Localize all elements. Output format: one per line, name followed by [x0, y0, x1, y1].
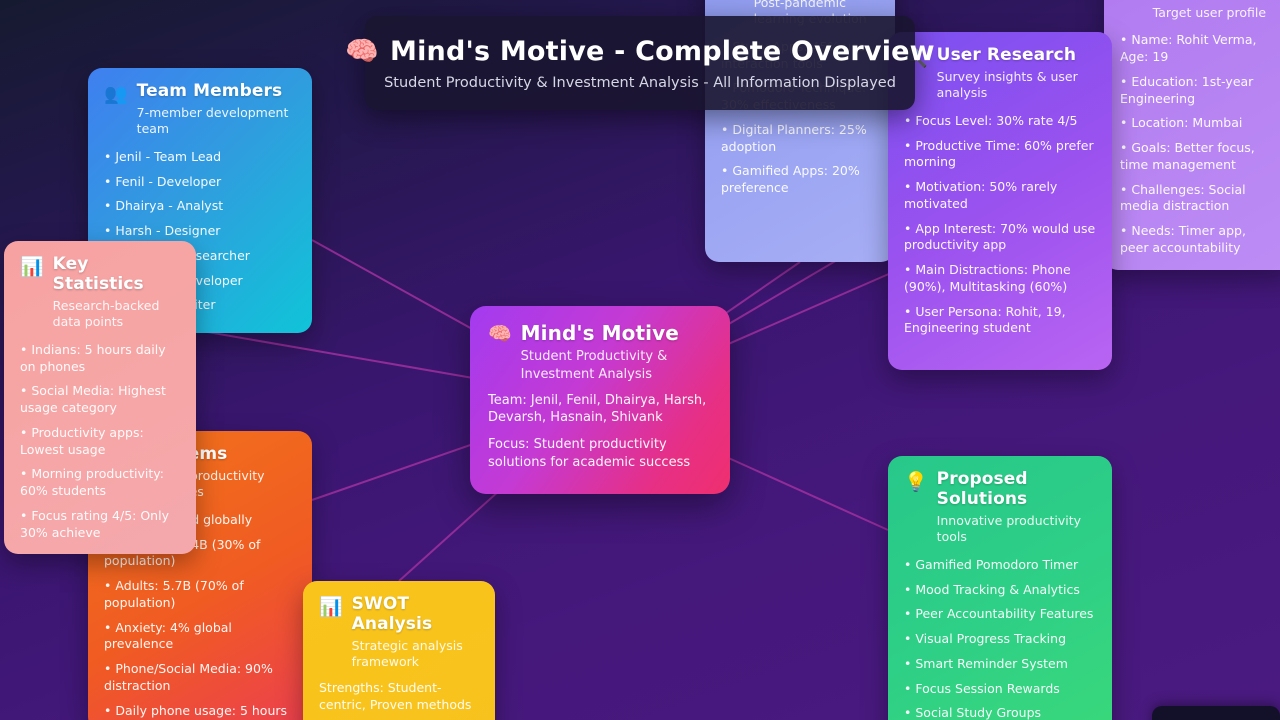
page-subtitle: Student Productivity & Investment Analys…	[384, 75, 896, 91]
list-item: User Persona: Rohit, 19, Engineering stu…	[904, 304, 1096, 338]
node-item-list: Indians: 5 hours daily on phones Social …	[20, 342, 180, 542]
node-subtitle: Survey insights & user analysis	[937, 69, 1096, 102]
node-title: Team Members	[137, 82, 296, 102]
brain-icon: 🧠	[488, 324, 512, 346]
list-item: Location: Mumbai	[1120, 115, 1278, 132]
bar-chart-icon: 📊	[319, 597, 343, 619]
center-team-line: Team: Jenil, Fenil, Dhairya, Harsh, Deva…	[488, 392, 712, 427]
mindmap-canvas[interactable]: 📊 Market Research Post-pandemic learning…	[0, 0, 1280, 720]
node-subtitle: Innovative productivity tools	[937, 513, 1096, 546]
node-item-list: Focus Level: 30% rate 4/5 Productive Tim…	[904, 113, 1096, 337]
list-item: Anxiety: 4% global prevalence	[104, 620, 296, 654]
node-key-statistics[interactable]: 📊 Key Statistics Research-backed data po…	[4, 241, 196, 554]
node-header: 📊 SWOT Analysis Strategic analysis frame…	[319, 595, 479, 671]
list-item: Digital Planners: 25% adoption	[721, 122, 879, 156]
list-item: Challenges: Social media distraction	[1120, 182, 1278, 216]
node-subtitle: Research-backed data points	[53, 298, 180, 331]
list-item: Needs: Timer app, peer accountability	[1120, 223, 1278, 257]
node-center-minds-motive[interactable]: 🧠 Mind's Motive Student Productivity & I…	[470, 306, 730, 494]
list-item: Name: Rohit Verma, Age: 19	[1120, 32, 1278, 66]
list-item: Harsh - Designer	[104, 223, 296, 240]
list-item: Focus rating 4/5: Only 30% achieve	[20, 508, 180, 542]
list-item: Smart Reminder System	[904, 656, 1096, 673]
node-title: Proposed Solutions	[937, 470, 1096, 510]
list-item: Social Media: Highest usage category	[20, 383, 180, 417]
node-title: User Persona	[1153, 0, 1278, 2]
list-item: Goals: Better focus, time management	[1120, 140, 1278, 174]
list-item: Focus Level: 30% rate 4/5	[904, 113, 1096, 130]
people-icon: 👥	[104, 84, 128, 106]
node-title: User Research	[937, 46, 1096, 66]
node-header: 👥 Team Members 7-member development team	[104, 82, 296, 138]
list-item: Education: 1st-year Engineering	[1120, 74, 1278, 108]
node-item-list: Gamified Pomodoro Timer Mood Tracking & …	[904, 557, 1096, 720]
node-item-list: Name: Rohit Verma, Age: 19 Education: 1s…	[1120, 32, 1278, 256]
node-header: 💡 Proposed Solutions Innovative producti…	[904, 470, 1096, 546]
node-header: 📊 Key Statistics Research-backed data po…	[20, 255, 180, 331]
page-header-panel: 🧠 Mind's Motive - Complete Overview Stud…	[365, 16, 915, 110]
bottom-right-panel[interactable]	[1152, 706, 1280, 720]
list-item: Visual Progress Tracking	[904, 631, 1096, 648]
list-item: Daily phone usage: 5 hours	[104, 703, 296, 720]
node-subtitle: 7-member development team	[137, 105, 296, 138]
node-title: Mind's Motive	[521, 322, 712, 345]
node-user-research[interactable]: 🔍 User Research Survey insights & user a…	[888, 32, 1112, 370]
list-item: Peer Accountability Features	[904, 606, 1096, 623]
list-item: Mood Tracking & Analytics	[904, 582, 1096, 599]
list-item: Motivation: 50% rarely motivated	[904, 179, 1096, 213]
page-title-text: Mind's Motive - Complete Overview	[390, 36, 935, 67]
list-item: Indians: 5 hours daily on phones	[20, 342, 180, 376]
list-item: Main Distractions: Phone (90%), Multitas…	[904, 262, 1096, 296]
node-header: 🧠 Mind's Motive Student Productivity & I…	[488, 322, 712, 383]
node-swot-analysis[interactable]: 📊 SWOT Analysis Strategic analysis frame…	[303, 581, 495, 720]
list-item: Focus Session Rewards	[904, 681, 1096, 698]
swot-strengths: Strengths: Student-centric, Proven metho…	[319, 680, 479, 714]
center-focus-line: Focus: Student productivity solutions fo…	[488, 436, 712, 471]
list-item: Social Study Groups	[904, 705, 1096, 720]
list-item: Phone/Social Media: 90% distraction	[104, 661, 296, 695]
list-item: Jenil - Team Lead	[104, 149, 296, 166]
bar-chart-icon: 📊	[20, 257, 44, 279]
lightbulb-icon: 💡	[904, 472, 928, 494]
list-item: Gamified Pomodoro Timer	[904, 557, 1096, 574]
node-proposed-solutions[interactable]: 💡 Proposed Solutions Innovative producti…	[888, 456, 1112, 720]
list-item: Gamified Apps: 20% preference	[721, 163, 879, 197]
node-title: Key Statistics	[53, 255, 180, 295]
node-title: SWOT Analysis	[352, 595, 479, 635]
list-item: Productive Time: 60% prefer morning	[904, 138, 1096, 172]
node-user-persona[interactable]: 👤 User Persona Target user profile Name:…	[1104, 0, 1280, 270]
list-item: Dhairya - Analyst	[104, 198, 296, 215]
list-item: Productivity apps: Lowest usage	[20, 425, 180, 459]
node-subtitle: Target user profile	[1153, 5, 1278, 22]
brain-icon: 🧠	[345, 35, 379, 67]
node-header: 👤 User Persona Target user profile	[1120, 0, 1278, 21]
node-subtitle: Strategic analysis framework	[352, 638, 479, 671]
list-item: Morning productivity: 60% students	[20, 466, 180, 500]
list-item: Fenil - Developer	[104, 174, 296, 191]
list-item: Adults: 5.7B (70% of population)	[104, 578, 296, 612]
page-title: 🧠 Mind's Motive - Complete Overview	[345, 35, 935, 67]
node-subtitle: Student Productivity & Investment Analys…	[521, 348, 712, 382]
list-item: App Interest: 70% would use productivity…	[904, 221, 1096, 255]
